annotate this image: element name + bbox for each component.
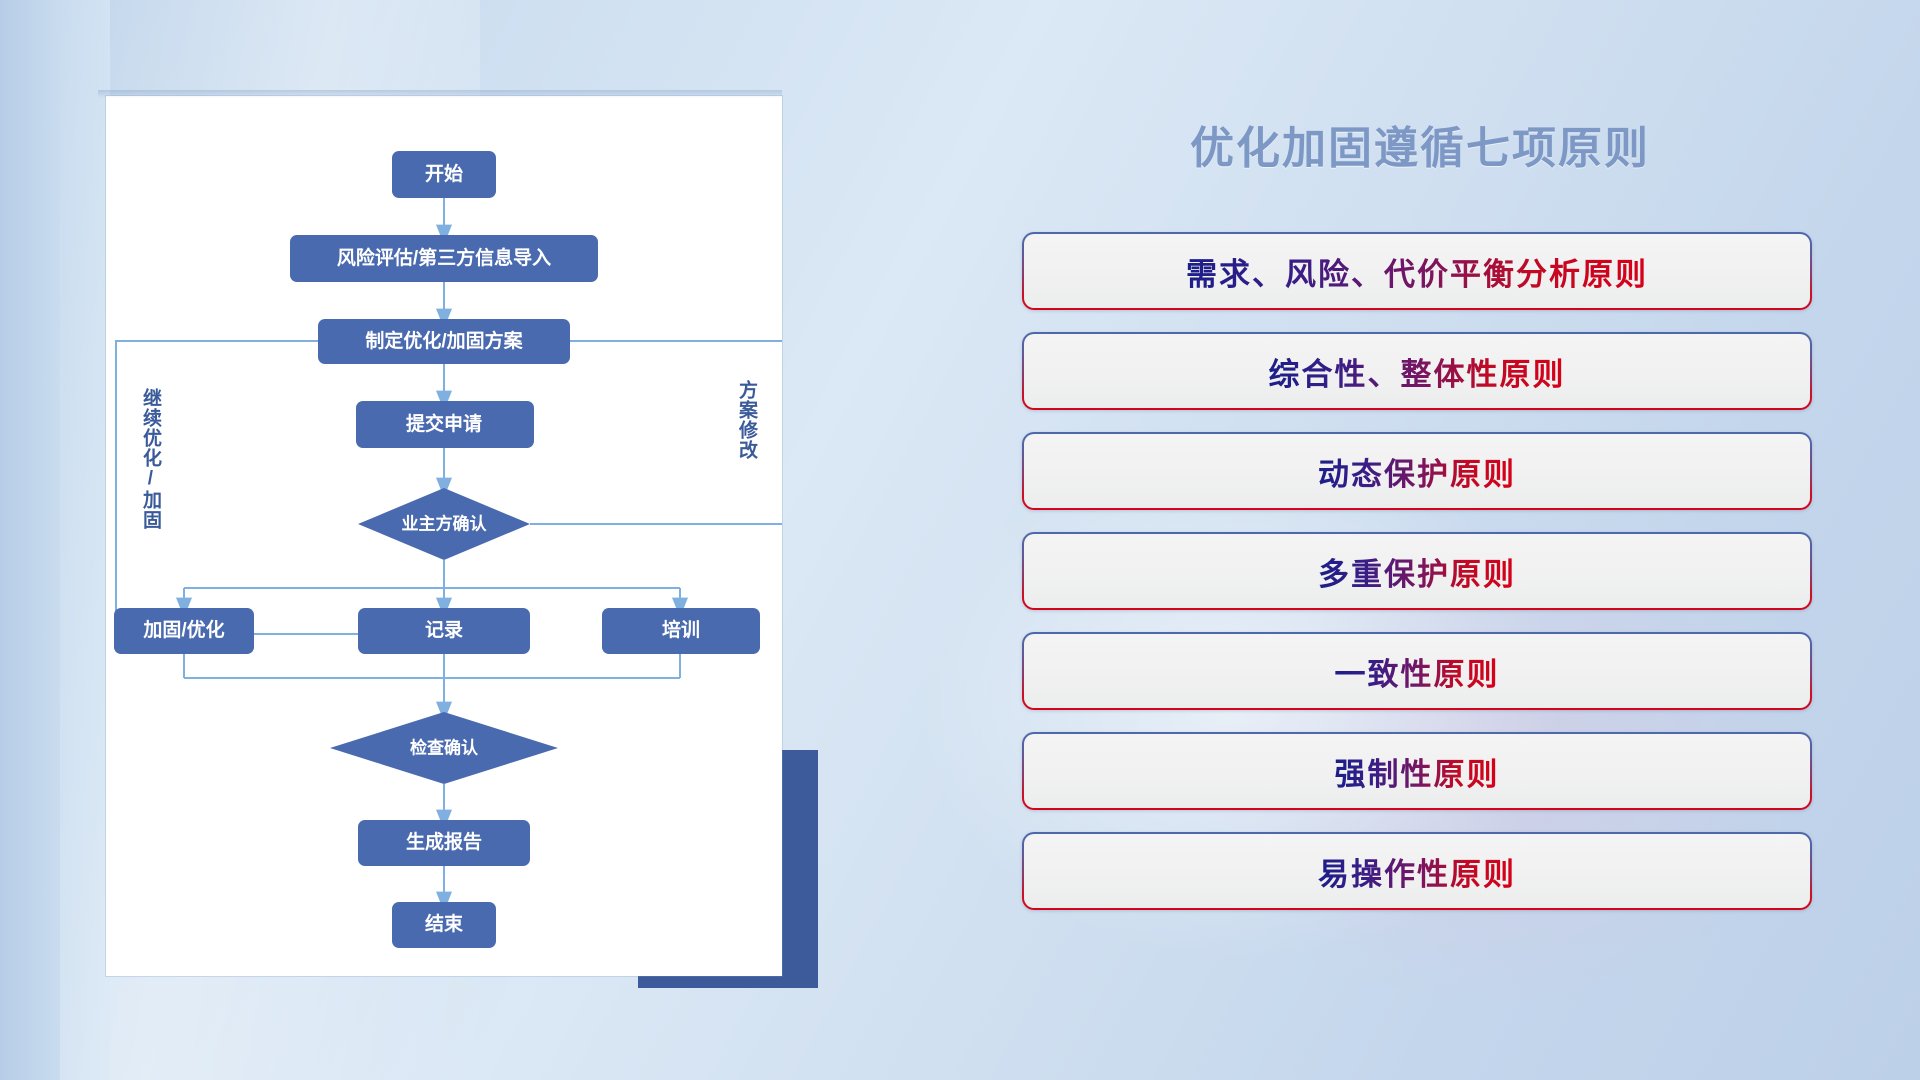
- flow-node-start-label: 开始: [425, 162, 463, 185]
- principle-card-inner: 易操作性原则: [1024, 834, 1810, 908]
- principle-card-7[interactable]: 易操作性原则: [1022, 832, 1812, 910]
- principle-label: 强制性原则: [1335, 749, 1500, 794]
- flow-node-report-label: 生成报告: [406, 830, 482, 853]
- flow-node-record-label: 记录: [425, 619, 463, 641]
- principles-list: 需求、风险、代价平衡分析原则 综合性、整体性原则 动态保护原则 多重保护原则 一…: [1022, 232, 1812, 932]
- flow-node-risk-assessment-label: 风险评估/第三方信息导入: [337, 246, 551, 269]
- flow-node-owner-confirm[interactable]: 业主方确认: [358, 488, 530, 560]
- principle-label: 一致性原则: [1335, 649, 1500, 694]
- flow-node-record[interactable]: 记录: [358, 608, 530, 654]
- flow-node-submit-label: 提交申请: [406, 412, 482, 435]
- flow-node-plan-label: 制定优化/加固方案: [365, 329, 523, 352]
- page-title: 优化加固遵循七项原则: [1020, 112, 1820, 176]
- principle-card-inner: 一致性原则: [1024, 634, 1810, 708]
- flow-edge-label-continue-optimize: 继续优化/加固: [140, 388, 160, 530]
- flowchart-panel: 开始 风险评估/第三方信息导入 制定优化/加固方案 提交申请 业主方确认 加固/…: [106, 96, 782, 976]
- principle-card-5[interactable]: 一致性原则: [1022, 632, 1812, 710]
- flow-node-start[interactable]: 开始: [392, 151, 496, 198]
- principle-card-2[interactable]: 综合性、整体性原则: [1022, 332, 1812, 410]
- principle-card-1[interactable]: 需求、风险、代价平衡分析原则: [1022, 232, 1812, 310]
- principle-card-6[interactable]: 强制性原则: [1022, 732, 1812, 810]
- flow-node-owner-confirm-label: 业主方确认: [402, 513, 488, 533]
- flow-node-plan[interactable]: 制定优化/加固方案: [318, 319, 570, 364]
- flowchart-diagram: 开始 风险评估/第三方信息导入 制定优化/加固方案 提交申请 业主方确认 加固/…: [106, 96, 782, 976]
- principle-label: 易操作性原则: [1318, 849, 1516, 894]
- flow-node-training-label: 培训: [662, 618, 700, 641]
- principle-card-inner: 强制性原则: [1024, 734, 1810, 808]
- flow-node-submit[interactable]: 提交申请: [356, 401, 534, 448]
- principle-card-3[interactable]: 动态保护原则: [1022, 432, 1812, 510]
- flow-node-end[interactable]: 结束: [392, 902, 496, 948]
- flow-node-check-confirm-label: 检查确认: [410, 737, 479, 757]
- principle-label: 需求、风险、代价平衡分析原则: [1186, 249, 1648, 294]
- flow-node-check-confirm[interactable]: 检查确认: [330, 712, 558, 784]
- flow-node-risk-assessment[interactable]: 风险评估/第三方信息导入: [290, 235, 598, 282]
- principle-card-inner: 需求、风险、代价平衡分析原则: [1024, 234, 1810, 308]
- principle-card-4[interactable]: 多重保护原则: [1022, 532, 1812, 610]
- principle-label: 综合性、整体性原则: [1269, 349, 1566, 394]
- flow-node-training[interactable]: 培训: [602, 608, 760, 654]
- principle-card-inner: 多重保护原则: [1024, 534, 1810, 608]
- flow-node-end-label: 结束: [425, 912, 464, 935]
- flow-node-report[interactable]: 生成报告: [358, 820, 530, 866]
- flow-node-reinforce-label: 加固/优化: [142, 618, 224, 641]
- flow-node-reinforce[interactable]: 加固/优化: [114, 608, 254, 654]
- principle-label: 动态保护原则: [1318, 449, 1516, 494]
- principle-label: 多重保护原则: [1318, 549, 1516, 594]
- flow-edge-label-plan-revision: 方案修改: [736, 380, 756, 460]
- principle-card-inner: 综合性、整体性原则: [1024, 334, 1810, 408]
- principle-card-inner: 动态保护原则: [1024, 434, 1810, 508]
